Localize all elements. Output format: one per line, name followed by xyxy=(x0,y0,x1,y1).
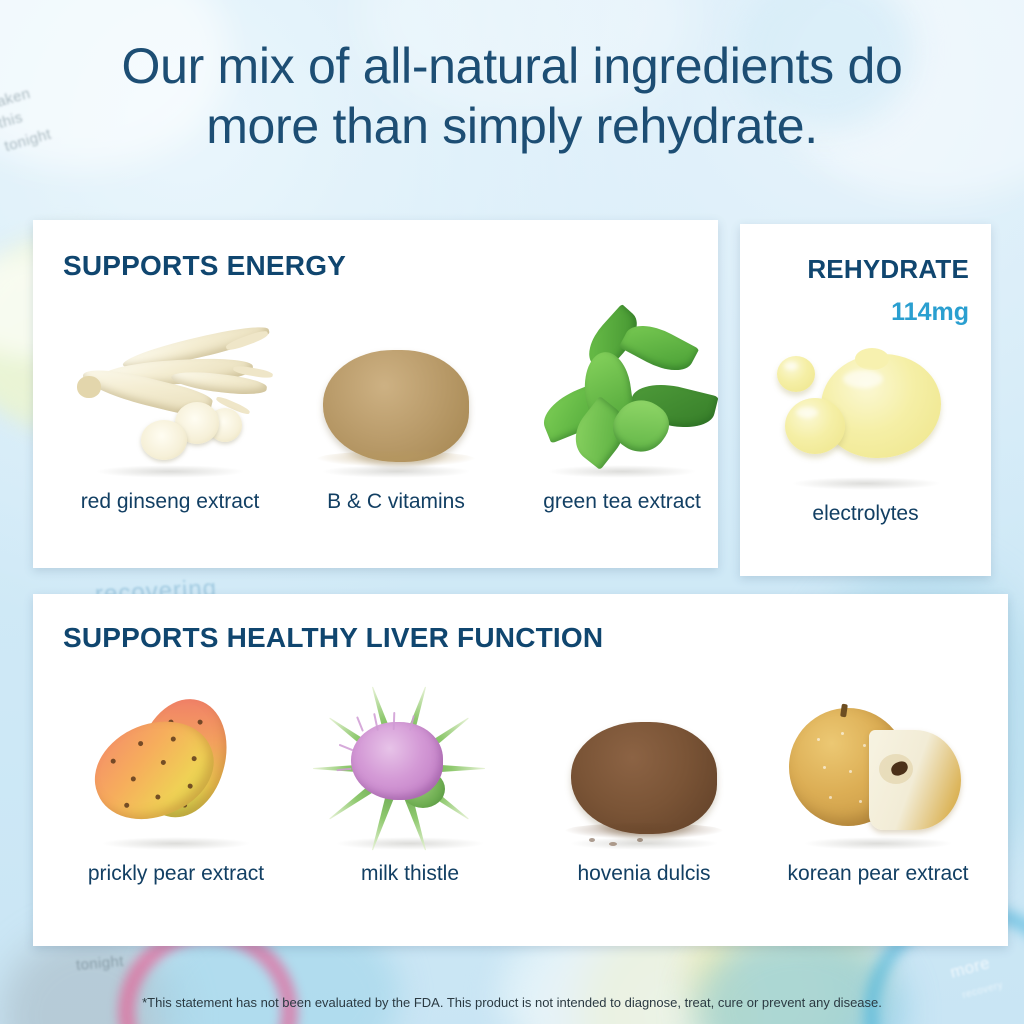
fda-disclaimer: *This statement has not been evaluated b… xyxy=(0,995,1024,1010)
ingredient-caption: milk thistle xyxy=(361,862,459,886)
ingredient-item-electrolytes: electrolytes xyxy=(746,328,986,526)
headline-line-1: Our mix of all-natural ingredients do xyxy=(0,36,1024,96)
powder-mound xyxy=(323,350,469,462)
art-shadow xyxy=(791,477,941,490)
ingredient-item-korean-pear-extract: korean pear extract xyxy=(761,688,995,886)
ingredient-caption: green tea extract xyxy=(543,490,701,514)
ginseng-slice xyxy=(141,420,187,460)
ingredient-item-prickly-pear-extract: prickly pear extract xyxy=(59,688,293,886)
liquid-highlight xyxy=(796,407,818,418)
ginseng-crown xyxy=(77,376,101,398)
card-supports-energy: SUPPORTS ENERGY red ginseng extract xyxy=(33,220,718,568)
ingredient-caption: B & C vitamins xyxy=(327,490,465,514)
prickly-pear-icon xyxy=(81,688,271,856)
liquid-droplet xyxy=(777,356,815,392)
ingredient-list-rehydrate: electrolytes xyxy=(740,328,991,526)
ginseng-root-icon xyxy=(75,316,265,484)
ingredient-caption: hovenia dulcis xyxy=(577,862,710,886)
powder-mound xyxy=(571,722,717,834)
art-shadow xyxy=(95,465,245,478)
ingredient-item-green-tea-extract: green tea extract xyxy=(509,316,735,514)
green-tea-leaves-icon xyxy=(527,316,717,484)
ingredient-caption: red ginseng extract xyxy=(81,490,260,514)
ingredient-caption: prickly pear extract xyxy=(88,862,264,886)
ingredient-list-liver: prickly pear extract xyxy=(59,688,1019,886)
ingredient-caption: korean pear extract xyxy=(788,862,969,886)
ingredient-caption: electrolytes xyxy=(812,502,918,526)
liquid-droplets-icon xyxy=(771,328,961,496)
korean-pear-slice xyxy=(869,730,961,830)
korean-pear-icon xyxy=(783,688,973,856)
art-shadow xyxy=(547,465,697,478)
art-shadow xyxy=(803,837,953,850)
headline-line-2: more than simply rehydrate. xyxy=(0,96,1024,156)
ingredient-item-hovenia-dulcis: hovenia dulcis xyxy=(527,688,761,886)
card-title-supports-energy: SUPPORTS ENERGY xyxy=(63,250,346,282)
rehydrate-dose-value: 114mg xyxy=(891,298,969,327)
liquid-highlight xyxy=(843,370,883,388)
liquid-droplet xyxy=(785,398,845,454)
liquid-highlight xyxy=(784,362,798,370)
page-headline: Our mix of all-natural ingredients do mo… xyxy=(0,36,1024,156)
tan-powder-icon xyxy=(301,316,491,484)
milk-thistle-icon xyxy=(315,688,505,856)
thistle-flower-head xyxy=(351,722,443,800)
ingredient-item-b-and-c-vitamins: B & C vitamins xyxy=(283,316,509,514)
card-title-supports-healthy-liver-function: SUPPORTS HEALTHY LIVER FUNCTION xyxy=(63,622,603,654)
card-supports-healthy-liver-function: SUPPORTS HEALTHY LIVER FUNCTION xyxy=(33,594,1008,946)
art-shadow xyxy=(101,837,251,850)
card-rehydrate: REHYDRATE 114mg electrolytes xyxy=(740,224,991,576)
art-shadow xyxy=(335,837,485,850)
ingredient-item-red-ginseng-extract: red ginseng extract xyxy=(57,316,283,514)
ingredient-list-energy: red ginseng extract B & C vitamins green… xyxy=(57,316,747,514)
ingredient-item-milk-thistle: milk thistle xyxy=(293,688,527,886)
cocoa-powder-icon xyxy=(549,688,739,856)
card-title-rehydrate: REHYDRATE xyxy=(740,254,969,285)
